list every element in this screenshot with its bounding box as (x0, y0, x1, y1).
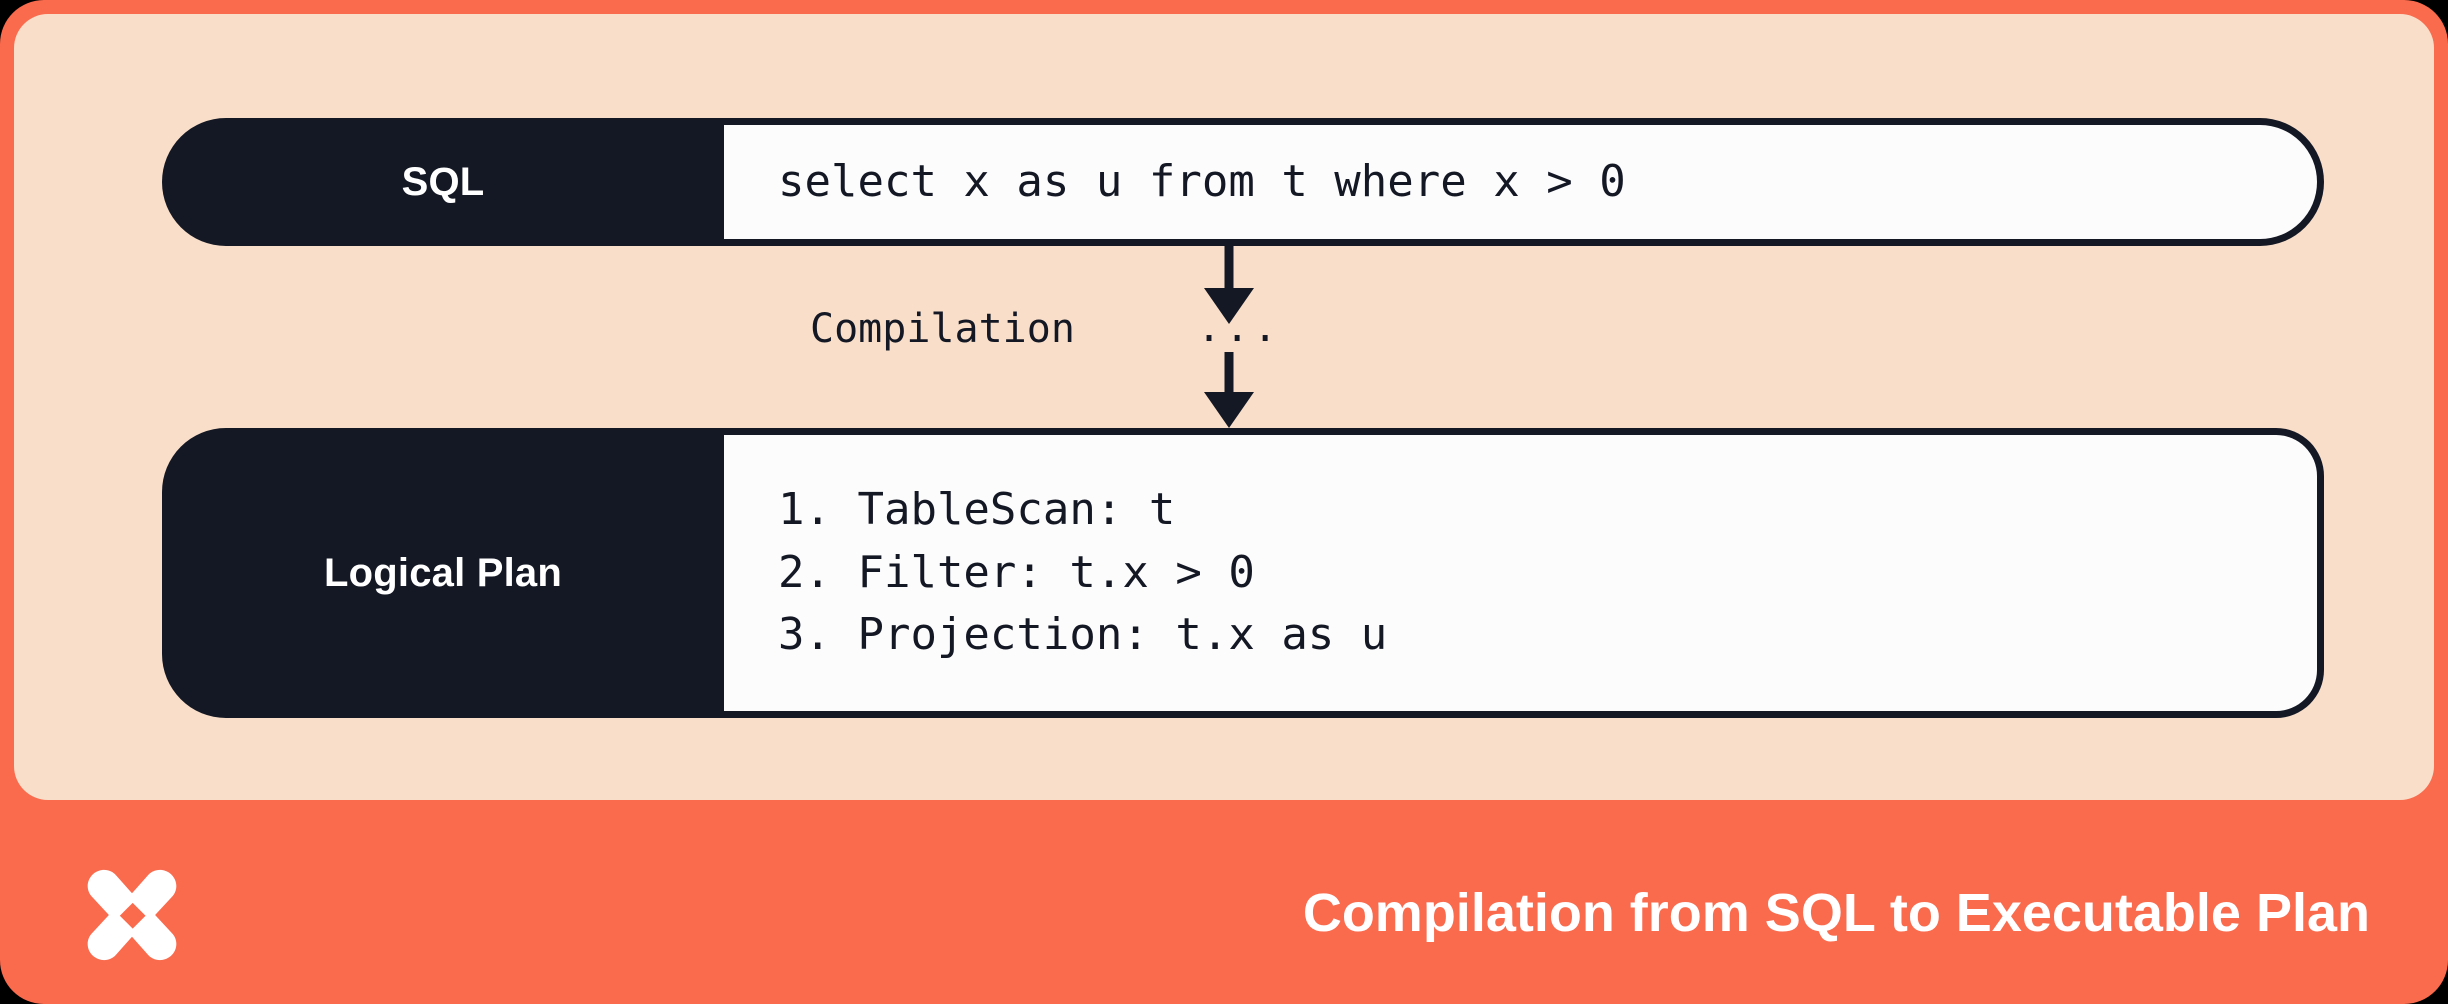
logical-plan-row: Logical Plan 1. TableScan: t 2. Filter: … (162, 428, 2324, 718)
footer-bar: Compilation from SQL to Executable Plan (0, 800, 2448, 1004)
sql-row: SQL select x as u from t where x > 0 (162, 118, 2324, 246)
compilation-label: Compilation (810, 306, 1075, 352)
outer-card: SQL select x as u from t where x > 0 Com… (0, 0, 2448, 1004)
plan-step-line: 3. Projection: t.x as u (778, 604, 2317, 666)
sql-row-body: select x as u from t where x > 0 (724, 118, 2324, 246)
content-panel: SQL select x as u from t where x > 0 Com… (14, 14, 2434, 800)
logical-plan-row-label: Logical Plan (162, 428, 724, 718)
plan-step-line: 1. TableScan: t (778, 479, 2317, 541)
compilation-ellipsis: ··· (1197, 316, 1281, 362)
footer-title: Compilation from SQL to Executable Plan (1303, 882, 2370, 944)
sql-code-text: select x as u from t where x > 0 (778, 156, 2317, 209)
x-star-logo-icon (62, 845, 202, 985)
sql-row-label: SQL (162, 118, 724, 246)
diagram-canvas: SQL select x as u from t where x > 0 Com… (0, 0, 2448, 1004)
plan-step-line: 2. Filter: t.x > 0 (778, 542, 2317, 604)
logical-plan-row-body: 1. TableScan: t 2. Filter: t.x > 0 3. Pr… (724, 428, 2324, 718)
